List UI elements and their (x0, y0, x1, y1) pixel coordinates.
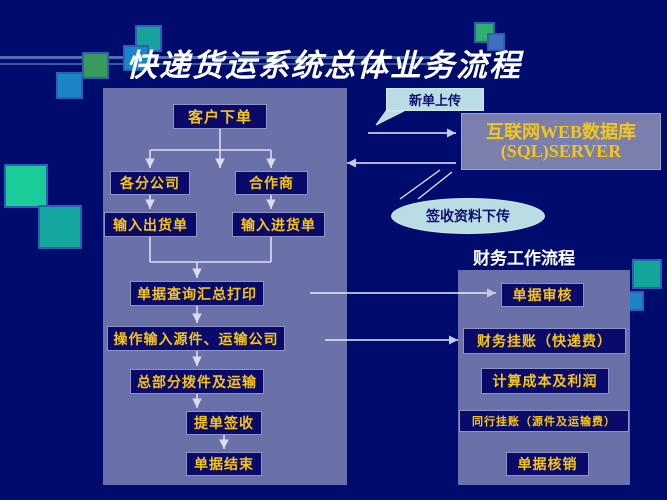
flow-box-label: 客户下单 (188, 106, 252, 127)
finance-box: 同行挂账（源件及运输费） (459, 410, 629, 432)
flow-box: 单据结束 (186, 452, 262, 476)
callout-upload: 新单上传 (386, 88, 484, 111)
flow-box-label: 输入出货单 (113, 215, 188, 235)
flow-box: 输入进货单 (232, 212, 325, 237)
flow-box: 提单签收 (186, 411, 262, 435)
callout-download-label: 签收资料下传 (426, 206, 510, 226)
finance-box-label: 计算成本及利润 (493, 371, 598, 391)
finance-box: 单据审核 (501, 283, 584, 307)
callout-download: 签收资料下传 (391, 198, 545, 234)
flow-box: 合作商 (235, 171, 308, 195)
flow-box-label: 输入进货单 (241, 215, 316, 235)
flow-box: 总部分拨件及运输 (130, 369, 264, 394)
finance-box: 财务挂账（快递费） (463, 328, 626, 354)
flow-box: 客户下单 (173, 104, 267, 129)
database-line-2: (SQL)SERVER (501, 142, 621, 161)
finance-box-label: 财务挂账（快递费） (477, 331, 612, 351)
finance-box-label: 单据核销 (518, 454, 578, 474)
flow-box-label: 总部分拨件及运输 (137, 372, 257, 392)
page-title: 快递货运系统总体业务流程 (126, 40, 522, 85)
slide-canvas: 快递货运系统总体业务流程 客户下单各分公司合作商输入出货单输入进货单单据查询汇总… (0, 0, 667, 500)
flow-box: 操作输入源件、运输公司 (107, 326, 285, 351)
flow-box: 单据查询汇总打印 (130, 281, 264, 306)
database-line-1: 互联网WEB数据库 (486, 123, 636, 142)
finance-section-heading: 财务工作流程 (473, 244, 575, 269)
flow-box-label: 单据结束 (194, 454, 254, 474)
flow-box-label: 合作商 (249, 173, 294, 193)
finance-box-label: 单据审核 (513, 285, 573, 305)
flow-box-label: 单据查询汇总打印 (137, 284, 257, 304)
flow-box: 各分公司 (110, 171, 190, 195)
flow-box: 输入出货单 (104, 212, 197, 237)
database-box: 互联网WEB数据库 (SQL)SERVER (461, 113, 661, 170)
finance-box: 计算成本及利润 (481, 368, 609, 394)
finance-box: 单据核销 (506, 452, 589, 476)
flow-box-label: 各分公司 (120, 173, 180, 193)
finance-box-label: 同行挂账（源件及运输费） (472, 413, 616, 429)
flow-box-label: 操作输入源件、运输公司 (114, 329, 279, 349)
callout-upload-label: 新单上传 (409, 90, 461, 109)
callout-tail (376, 111, 404, 125)
flow-box-label: 提单签收 (194, 413, 254, 433)
